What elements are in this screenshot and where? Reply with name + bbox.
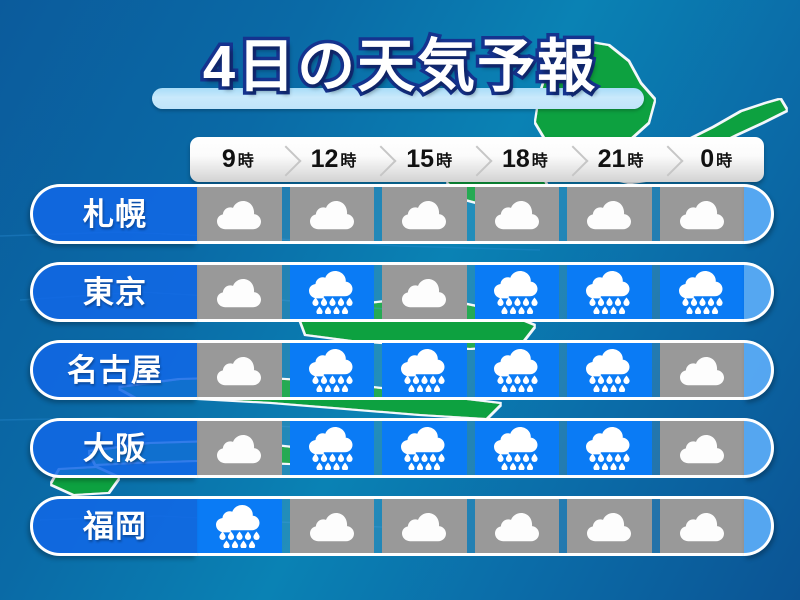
cloud-icon bbox=[402, 510, 446, 542]
cloud-icon bbox=[587, 198, 631, 230]
forecast-cell[interactable] bbox=[290, 421, 375, 475]
cloud-icon bbox=[680, 432, 724, 464]
city-pill-福岡[interactable]: 福岡 bbox=[30, 496, 197, 556]
forecast-cells bbox=[197, 496, 744, 556]
forecast-cell[interactable] bbox=[382, 421, 467, 475]
forecast-cell[interactable] bbox=[475, 265, 560, 319]
cloud-icon bbox=[217, 198, 261, 230]
cloud-icon bbox=[495, 510, 539, 542]
forecast-cell[interactable] bbox=[475, 499, 560, 553]
cloud-icon bbox=[217, 432, 261, 464]
forecast-cell[interactable] bbox=[197, 187, 282, 241]
time-unit: 時 bbox=[532, 154, 548, 170]
forecast-row[interactable]: 福岡 bbox=[30, 496, 774, 556]
cloud-rain-icon bbox=[494, 270, 540, 314]
cloud-icon bbox=[310, 510, 354, 542]
forecast-cell[interactable] bbox=[382, 187, 467, 241]
time-hour: 12 bbox=[311, 147, 339, 172]
forecast-row[interactable]: 大阪 bbox=[30, 418, 774, 478]
forecast-cell[interactable] bbox=[660, 187, 745, 241]
forecast-rows: 札幌東京名古屋大阪福岡 bbox=[30, 184, 774, 574]
cloud-rain-icon bbox=[401, 426, 447, 470]
cloud-rain-icon bbox=[679, 270, 725, 314]
city-name: 福岡 bbox=[83, 511, 147, 542]
cloud-icon bbox=[217, 276, 261, 308]
forecast-cell[interactable] bbox=[475, 187, 560, 241]
time-unit: 時 bbox=[627, 154, 643, 170]
forecast-cell[interactable] bbox=[197, 343, 282, 397]
forecast-cell[interactable] bbox=[475, 421, 560, 475]
forecast-cell[interactable] bbox=[382, 265, 467, 319]
forecast-cell[interactable] bbox=[197, 265, 282, 319]
cloud-icon bbox=[680, 510, 724, 542]
forecast-cell[interactable] bbox=[197, 499, 282, 553]
forecast-cell[interactable] bbox=[567, 187, 652, 241]
forecast-cell[interactable] bbox=[290, 187, 375, 241]
time-hour: 15 bbox=[406, 147, 434, 172]
cloud-rain-icon bbox=[216, 504, 262, 548]
time-hour: 9 bbox=[222, 147, 236, 172]
time-hour: 18 bbox=[502, 147, 530, 172]
cloud-icon bbox=[680, 198, 724, 230]
time-unit: 時 bbox=[340, 154, 356, 170]
cloud-rain-icon bbox=[494, 348, 540, 392]
forecast-cell[interactable] bbox=[660, 343, 745, 397]
forecast-cell[interactable] bbox=[660, 499, 745, 553]
city-name: 札幌 bbox=[83, 199, 147, 230]
forecast-cell[interactable] bbox=[567, 265, 652, 319]
cloud-rain-icon bbox=[309, 348, 355, 392]
city-pill-札幌[interactable]: 札幌 bbox=[30, 184, 197, 244]
cloud-rain-icon bbox=[494, 426, 540, 470]
time-header-bar: 9 時 12 時 15 時 18 時 21 時 0 時 bbox=[190, 137, 764, 182]
row-end-cap bbox=[744, 184, 774, 244]
row-end-cap bbox=[744, 418, 774, 478]
cloud-icon bbox=[680, 354, 724, 386]
row-end-cap bbox=[744, 496, 774, 556]
time-unit: 時 bbox=[238, 154, 254, 170]
forecast-row[interactable]: 東京 bbox=[30, 262, 774, 322]
forecast-row[interactable]: 名古屋 bbox=[30, 340, 774, 400]
cloud-rain-icon bbox=[309, 426, 355, 470]
forecast-cell[interactable] bbox=[567, 499, 652, 553]
cloud-rain-icon bbox=[309, 270, 355, 314]
forecast-cells bbox=[197, 262, 744, 322]
weather-forecast-screen: 4日の天気予報 9 時 12 時 15 時 18 時 21 時 0 時 札幌東京… bbox=[0, 0, 800, 600]
time-unit: 時 bbox=[716, 154, 732, 170]
forecast-cell[interactable] bbox=[567, 421, 652, 475]
forecast-cell[interactable] bbox=[290, 343, 375, 397]
row-end-cap bbox=[744, 340, 774, 400]
time-hour: 21 bbox=[598, 147, 626, 172]
cloud-icon bbox=[587, 510, 631, 542]
page-title: 4日の天気予報 bbox=[0, 34, 800, 100]
forecast-cells bbox=[197, 184, 744, 244]
city-name: 名古屋 bbox=[67, 355, 163, 386]
forecast-cell[interactable] bbox=[660, 265, 745, 319]
city-name: 大阪 bbox=[83, 433, 147, 464]
forecast-cell[interactable] bbox=[197, 421, 282, 475]
forecast-cell[interactable] bbox=[382, 343, 467, 397]
forecast-cell[interactable] bbox=[567, 343, 652, 397]
forecast-cell[interactable] bbox=[475, 343, 560, 397]
forecast-cell[interactable] bbox=[660, 421, 745, 475]
city-pill-名古屋[interactable]: 名古屋 bbox=[30, 340, 197, 400]
time-hour: 0 bbox=[700, 147, 714, 172]
time-header-cell: 0 時 bbox=[668, 137, 764, 182]
city-pill-東京[interactable]: 東京 bbox=[30, 262, 197, 322]
time-unit: 時 bbox=[436, 154, 452, 170]
cloud-icon bbox=[495, 198, 539, 230]
city-name: 東京 bbox=[83, 277, 147, 308]
forecast-row[interactable]: 札幌 bbox=[30, 184, 774, 244]
cloud-rain-icon bbox=[586, 348, 632, 392]
forecast-cell[interactable] bbox=[382, 499, 467, 553]
row-end-cap bbox=[744, 262, 774, 322]
forecast-cells bbox=[197, 340, 744, 400]
forecast-cell[interactable] bbox=[290, 499, 375, 553]
cloud-icon bbox=[402, 198, 446, 230]
cloud-icon bbox=[217, 354, 261, 386]
cloud-rain-icon bbox=[586, 270, 632, 314]
forecast-cell[interactable] bbox=[290, 265, 375, 319]
cloud-rain-icon bbox=[586, 426, 632, 470]
forecast-cells bbox=[197, 418, 744, 478]
cloud-icon bbox=[402, 276, 446, 308]
cloud-icon bbox=[310, 198, 354, 230]
city-pill-大阪[interactable]: 大阪 bbox=[30, 418, 197, 478]
cloud-rain-icon bbox=[401, 348, 447, 392]
